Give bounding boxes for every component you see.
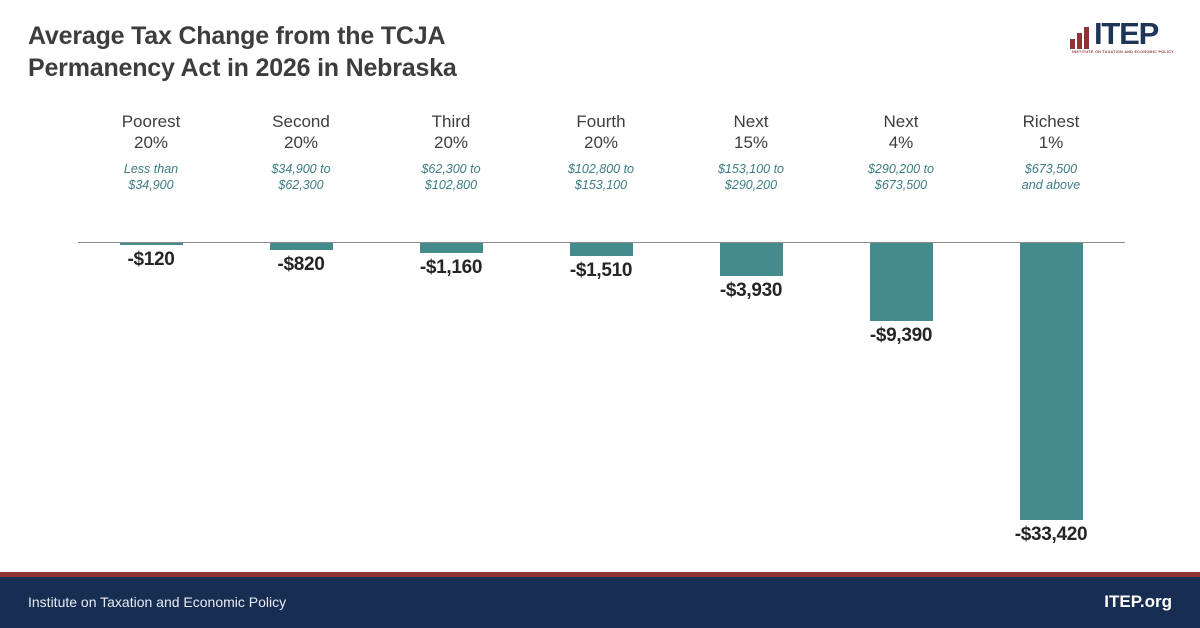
bar-group-5: -$9,390	[826, 243, 976, 347]
chart-page: Average Tax Change from the TCJA Permane…	[0, 0, 1200, 628]
bar-value-label: -$820	[277, 254, 324, 276]
category-label: Third 20%	[376, 112, 526, 153]
category-label: Poorest 20%	[76, 112, 226, 153]
bar[interactable]	[870, 243, 933, 321]
bar-value-label: -$33,420	[1015, 524, 1088, 546]
bar[interactable]	[1020, 243, 1083, 520]
bar[interactable]	[120, 243, 183, 245]
bar-group-6: -$33,420	[976, 243, 1126, 546]
category-header-6: Richest 1%$673,500 and above	[976, 112, 1126, 194]
bar-value-label: -$120	[127, 249, 174, 271]
bar-group-0: -$120	[76, 243, 226, 271]
bar-value-label: -$1,160	[420, 257, 482, 279]
category-header-4: Next 15%$153,100 to $290,200	[676, 112, 826, 194]
bar-value-label: -$1,510	[570, 260, 632, 282]
income-range-label: Less than $34,900	[76, 162, 226, 193]
income-range-label: $673,500 and above	[976, 162, 1126, 193]
income-range-label: $290,200 to $673,500	[826, 162, 976, 193]
income-range-label: $153,100 to $290,200	[676, 162, 826, 193]
category-label: Richest 1%	[976, 112, 1126, 153]
bar-group-3: -$1,510	[526, 243, 676, 282]
bar[interactable]	[420, 243, 483, 253]
category-label: Second 20%	[226, 112, 376, 153]
bar[interactable]	[270, 243, 333, 250]
footer-org-name: Institute on Taxation and Economic Polic…	[28, 594, 286, 610]
category-header-5: Next 4%$290,200 to $673,500	[826, 112, 976, 194]
bar[interactable]	[570, 243, 633, 256]
bar-value-label: -$3,930	[720, 280, 782, 302]
bar-group-4: -$3,930	[676, 243, 826, 302]
category-header-3: Fourth 20%$102,800 to $153,100	[526, 112, 676, 194]
bar-group-2: -$1,160	[376, 243, 526, 279]
footer-bar: Institute on Taxation and Economic Polic…	[0, 577, 1200, 628]
footer-website[interactable]: ITEP.org	[1104, 592, 1172, 612]
category-header-1: Second 20%$34,900 to $62,300	[226, 112, 376, 194]
category-label: Fourth 20%	[526, 112, 676, 153]
category-label: Next 15%	[676, 112, 826, 153]
income-range-label: $62,300 to $102,800	[376, 162, 526, 193]
category-label: Next 4%	[826, 112, 976, 153]
category-header-2: Third 20%$62,300 to $102,800	[376, 112, 526, 194]
bar-group-1: -$820	[226, 243, 376, 276]
bar-value-label: -$9,390	[870, 325, 932, 347]
income-range-label: $102,800 to $153,100	[526, 162, 676, 193]
category-header-0: Poorest 20%Less than $34,900	[76, 112, 226, 194]
chart-plot-area: Poorest 20%Less than $34,900Second 20%$3…	[0, 0, 1200, 560]
bar[interactable]	[720, 243, 783, 276]
income-range-label: $34,900 to $62,300	[226, 162, 376, 193]
